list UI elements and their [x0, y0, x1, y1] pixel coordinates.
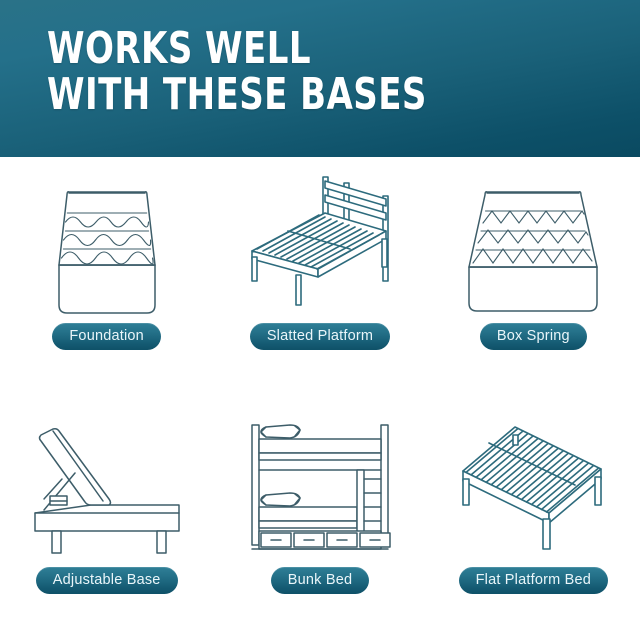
- base-label-box-spring[interactable]: Box Spring: [480, 323, 587, 350]
- base-card-adjustable-base[interactable]: Adjustable Base: [0, 401, 213, 640]
- mattress-foundation-icon: [17, 169, 197, 319]
- base-card-foundation[interactable]: Foundation: [0, 157, 213, 399]
- slatted-platform-bed-icon: [230, 169, 410, 319]
- base-card-box-spring[interactable]: Box Spring: [427, 157, 640, 399]
- box-spring-icon: [443, 169, 623, 319]
- base-label-flat-platform-bed[interactable]: Flat Platform Bed: [459, 567, 608, 594]
- adjustable-base-icon: [17, 413, 197, 563]
- base-card-bunk-bed[interactable]: Bunk Bed: [213, 401, 426, 640]
- infographic-page: WORKS WELL WITH THESE BASES: [0, 0, 640, 640]
- base-label-adjustable-base[interactable]: Adjustable Base: [36, 567, 178, 594]
- base-card-flat-platform-bed[interactable]: Flat Platform Bed: [427, 401, 640, 640]
- flat-platform-bed-icon: [443, 413, 623, 563]
- bunk-bed-icon: [230, 413, 410, 563]
- base-label-bunk-bed[interactable]: Bunk Bed: [271, 567, 369, 594]
- bases-grid: Foundation: [0, 157, 640, 640]
- base-label-foundation[interactable]: Foundation: [52, 323, 161, 350]
- base-label-slatted-platform[interactable]: Slatted Platform: [250, 323, 390, 350]
- page-title: WORKS WELL WITH THESE BASES: [47, 26, 427, 118]
- header-banner: WORKS WELL WITH THESE BASES: [0, 0, 640, 157]
- base-card-slatted-platform[interactable]: Slatted Platform: [213, 157, 426, 399]
